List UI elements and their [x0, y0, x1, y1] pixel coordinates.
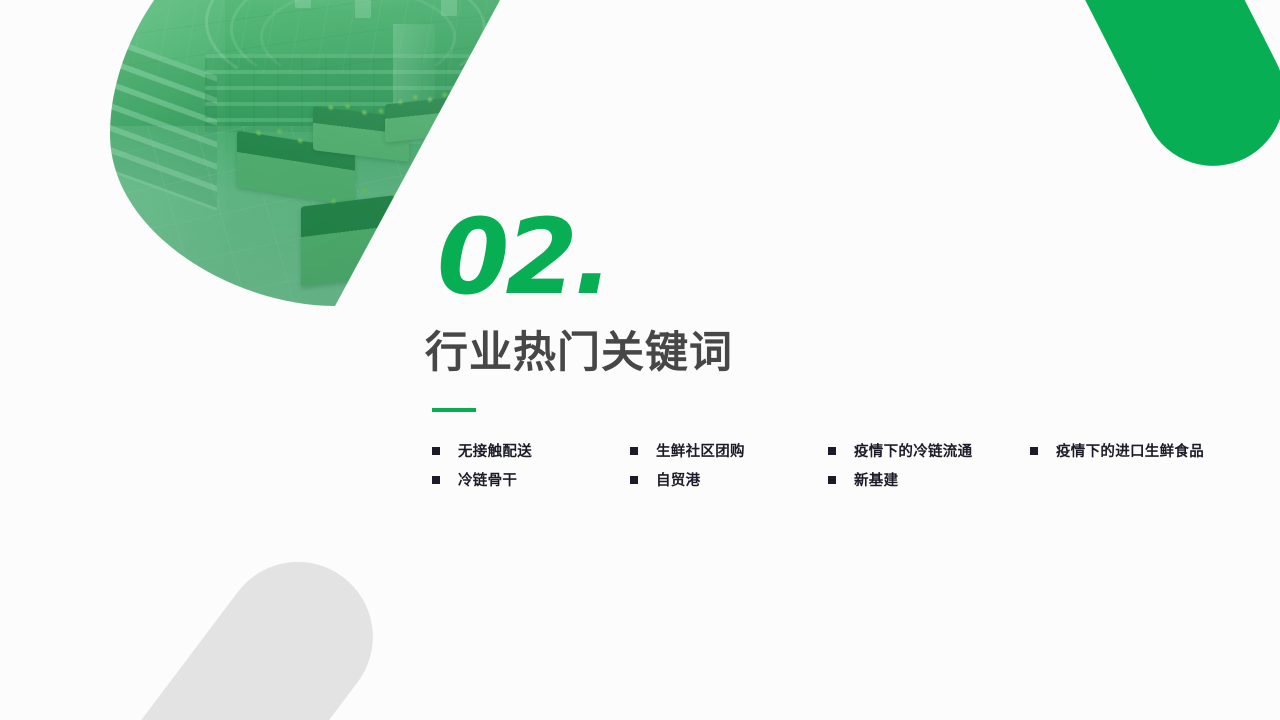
keyword-column-2: 生鲜社区团购 自贸港	[630, 436, 828, 494]
list-item[interactable]: 自贸港	[630, 465, 828, 494]
keyword-label: 冷链骨干	[458, 469, 517, 490]
list-item[interactable]: 冷链骨干	[432, 465, 630, 494]
keyword-label: 无接触配送	[458, 440, 532, 461]
square-bullet-icon	[828, 476, 836, 484]
title-underline-rule	[432, 408, 476, 412]
keyword-label: 生鲜社区团购	[656, 440, 745, 461]
list-item[interactable]: 疫情下的冷链流通	[828, 436, 1030, 465]
keyword-label: 疫情下的冷链流通	[854, 440, 972, 461]
keyword-label: 疫情下的进口生鲜食品	[1056, 440, 1204, 461]
slide-canvas: 02. 行业热门关键词 无接触配送 冷链骨干 生鲜社区团购	[0, 0, 1280, 720]
decorative-gray-pill-shape	[85, 532, 403, 720]
square-bullet-icon	[432, 476, 440, 484]
square-bullet-icon	[630, 476, 638, 484]
keyword-label: 自贸港	[656, 469, 700, 490]
keyword-columns: 无接触配送 冷链骨干 生鲜社区团购 自贸港	[432, 436, 1245, 494]
keyword-column-4: 疫情下的进口生鲜食品	[1030, 436, 1240, 465]
keyword-label: 新基建	[854, 469, 898, 490]
square-bullet-icon	[630, 447, 638, 455]
list-item[interactable]: 生鲜社区团购	[630, 436, 828, 465]
keyword-column-3: 疫情下的冷链流通 新基建	[828, 436, 1030, 494]
list-item[interactable]: 新基建	[828, 465, 1030, 494]
list-item[interactable]: 无接触配送	[432, 436, 630, 465]
decorative-green-teardrop-shape	[1066, 0, 1280, 190]
slide-content: 02. 行业热门关键词 无接触配送 冷链骨干 生鲜社区团购	[425, 205, 1245, 494]
page-title: 行业热门关键词	[425, 331, 1245, 376]
decorative-green-teardrop-fill	[1112, 0, 1265, 81]
section-number: 02.	[437, 205, 1245, 313]
keyword-column-1: 无接触配送 冷链骨干	[432, 436, 630, 494]
square-bullet-icon	[828, 447, 836, 455]
square-bullet-icon	[432, 447, 440, 455]
square-bullet-icon	[1030, 447, 1038, 455]
list-item[interactable]: 疫情下的进口生鲜食品	[1030, 436, 1240, 465]
